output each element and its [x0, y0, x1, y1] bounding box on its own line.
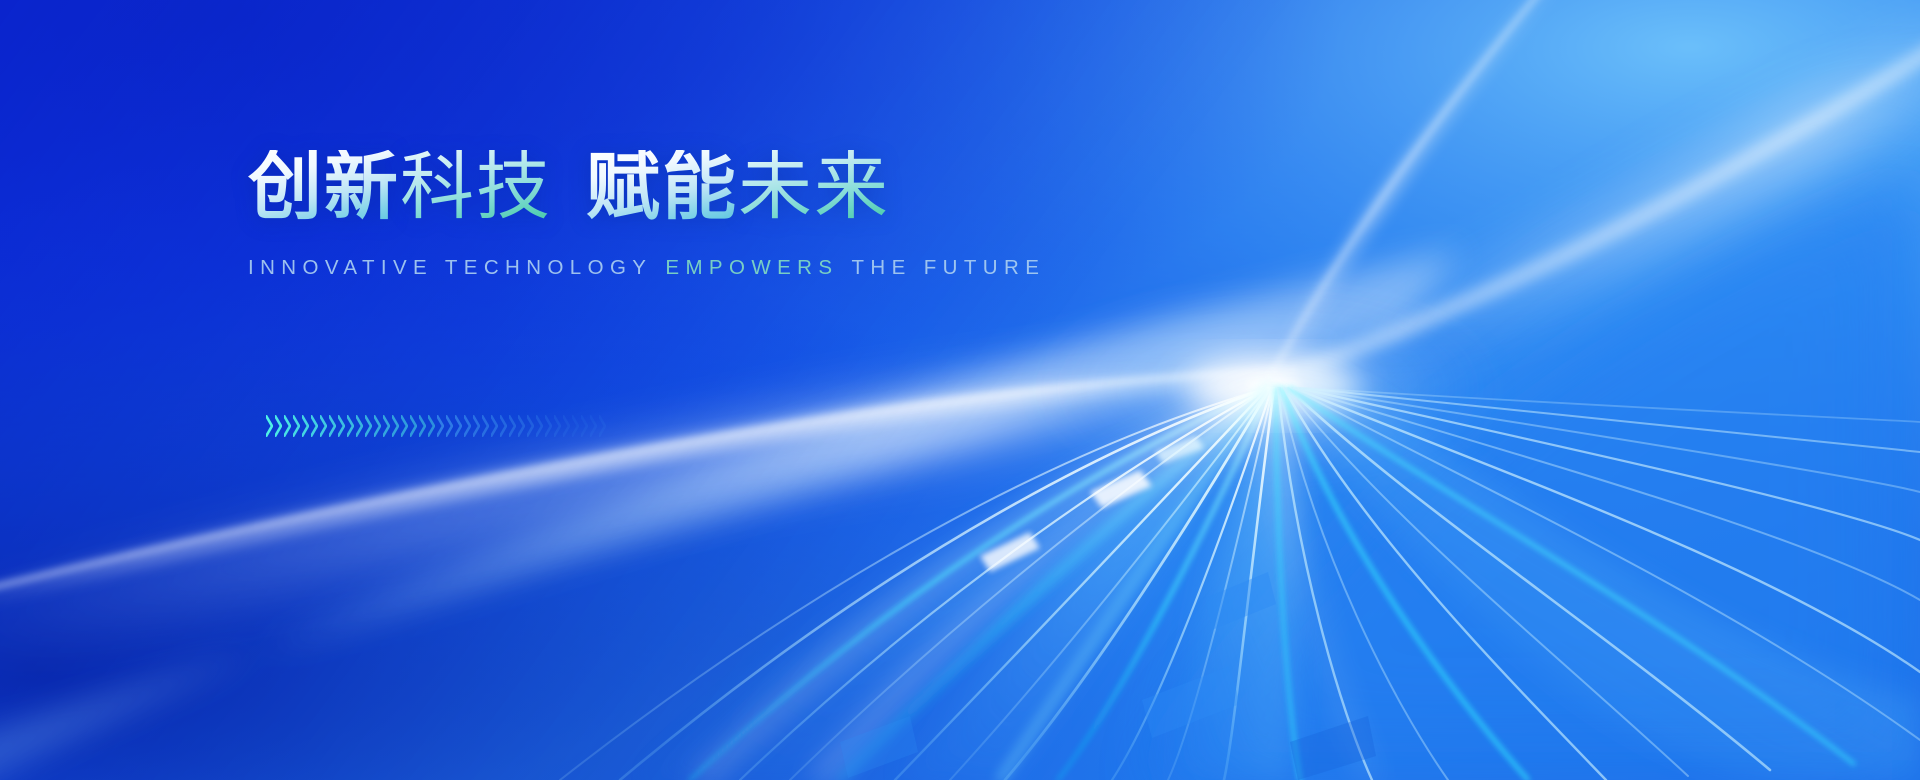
hero-banner: 创新 科技 赋能 未来 INNOVATIVE TECHNOLOGY EMPOWE… [0, 0, 1920, 780]
foreground-veil [0, 0, 1920, 780]
